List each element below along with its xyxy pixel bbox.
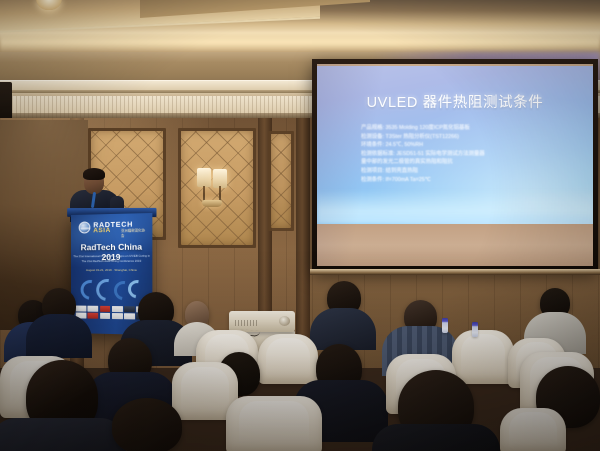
sponsor-logo xyxy=(124,306,135,312)
audience-torso-foreground xyxy=(372,424,500,451)
radtech-asia-logo: RADTECH ASIA 亚洲辐射固化协会 xyxy=(77,219,149,235)
projector-vent xyxy=(235,320,257,326)
wall-speaker xyxy=(0,82,12,122)
cove-lighting-glow xyxy=(0,30,600,52)
event-subtitle-line2: The 21st RadTech Asia Curing Conference … xyxy=(71,259,152,263)
slide-body-line: 量中部的发光二极管的真实热阻和阻抗 xyxy=(361,158,581,167)
projection-screen-surface: UVLED 器件热阻测试条件 产品规格: 3535 Molding 120度IC… xyxy=(317,64,593,266)
slide-body-line: 环境条件: 24.5℃, 50%RH xyxy=(361,141,581,150)
projector-lens xyxy=(279,316,290,326)
sponsor-logo xyxy=(124,313,135,319)
water-bottle xyxy=(472,322,478,337)
slide-body-line: 检测依据标准: JESD51-51 实际电学测试方法测量器 xyxy=(361,150,581,159)
slide-body-line: 检测条件: If=700mA Ta=25℃ xyxy=(361,176,581,185)
wall-sconce xyxy=(196,168,230,208)
sponsor-logo xyxy=(100,313,111,319)
sponsor-logo xyxy=(112,313,123,319)
diamond-fabric-panel xyxy=(268,131,294,231)
sconce-shade-left xyxy=(197,168,211,187)
sponsor-logo xyxy=(88,313,99,319)
globe-icon xyxy=(79,221,91,233)
sconce-base xyxy=(202,200,222,207)
screen-blank-area xyxy=(317,224,593,266)
audience-torso-foreground xyxy=(0,418,126,451)
presenter-hair xyxy=(83,168,105,180)
sponsor-logo xyxy=(100,306,111,312)
logo-brand-chinese: 亚洲辐射固化协会 xyxy=(121,227,148,238)
audience-chair xyxy=(258,334,318,384)
sponsor-logo xyxy=(88,306,99,312)
audience-head-foreground xyxy=(112,398,182,451)
audience-chair xyxy=(452,330,514,384)
presentation-slide: UVLED 器件热阻测试条件 产品规格: 3535 Molding 120度IC… xyxy=(317,66,593,224)
slide-body-line: 检测项目: 结到壳直热阻 xyxy=(361,167,581,176)
sponsor-logo xyxy=(76,306,86,312)
projection-screen: UVLED 器件热阻测试条件 产品规格: 3535 Molding 120度IC… xyxy=(312,59,598,271)
conference-room-photo: UVLED 器件热阻测试条件 产品规格: 3535 Molding 120度IC… xyxy=(0,0,600,451)
podium-arc-graphics xyxy=(79,278,149,305)
sponsor-logo xyxy=(112,306,123,312)
event-date-location: August 19-21, 2019 · Shanghai, China xyxy=(71,268,152,272)
slide-title: UVLED 器件热阻测试条件 xyxy=(317,91,593,112)
screen-bottom-bar xyxy=(310,269,600,275)
projector xyxy=(229,311,295,332)
water-bottle xyxy=(442,318,448,333)
audience-chair-foreground xyxy=(226,396,322,451)
logo-brand-line2: ASIA xyxy=(93,227,111,234)
wall-pillar-right xyxy=(296,118,310,368)
sponsor-logo-row xyxy=(76,306,147,313)
slide-body-line: 产品规格: 3535 Molding 120度ICP氮化铝基板 xyxy=(361,124,581,133)
audience-chair-foreground xyxy=(500,408,566,451)
slide-body-line: 检测设备: T3Ster 热阻分析仪(TST12266) xyxy=(361,133,581,142)
audience-torso xyxy=(26,314,92,358)
slide-light-sheen xyxy=(317,190,593,224)
sponsor-logo-row xyxy=(76,312,147,319)
slide-body-text: 产品规格: 3535 Molding 120度ICP氮化铝基板 检测设备: T3… xyxy=(361,124,581,184)
